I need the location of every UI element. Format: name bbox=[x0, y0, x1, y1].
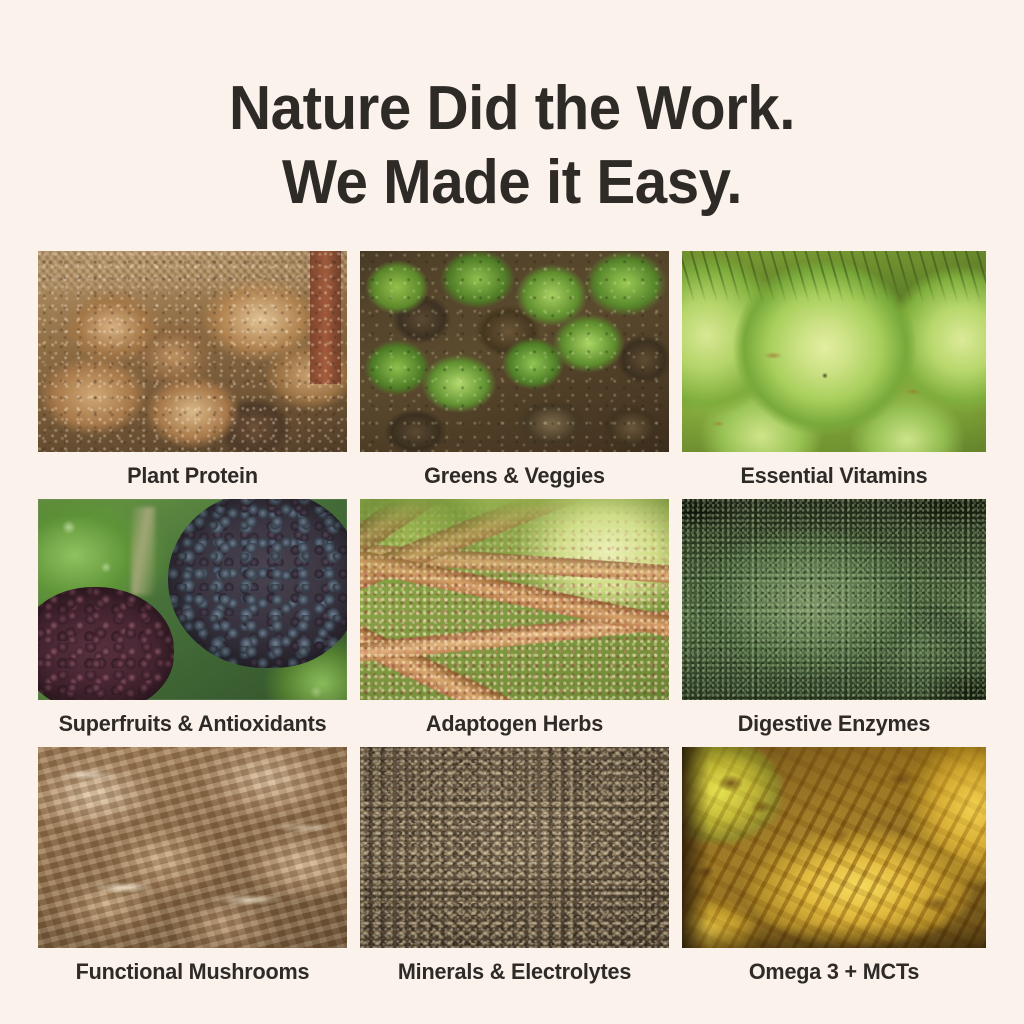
ingredient-grid: Plant Protein Greens & Veggies Essential… bbox=[38, 251, 986, 999]
photo-vignette bbox=[38, 499, 347, 700]
maitake-mushrooms-photo bbox=[38, 747, 347, 948]
yellow-cacao-pods-photo bbox=[682, 747, 986, 948]
grid-cell-essential-vitamins[interactable]: Essential Vitamins bbox=[682, 251, 986, 499]
tile-label-essential-vitamins: Essential Vitamins bbox=[688, 452, 980, 499]
grid-cell-plant-protein[interactable]: Plant Protein bbox=[38, 251, 347, 499]
grid-cell-greens-veggies[interactable]: Greens & Veggies bbox=[360, 251, 669, 499]
grid-cell-functional-mushrooms[interactable]: Functional Mushrooms bbox=[38, 747, 347, 999]
headline-line-1: Nature Did the Work. bbox=[31, 72, 994, 146]
photo-vignette bbox=[38, 747, 347, 948]
amaranth-seed-heads-photo bbox=[360, 499, 669, 700]
headline-line-2: We Made it Easy. bbox=[31, 146, 994, 220]
spirulina-powder-photo bbox=[682, 499, 986, 700]
photo-vignette bbox=[38, 251, 347, 452]
photo-vignette bbox=[360, 499, 669, 700]
grid-cell-adaptogen-herbs[interactable]: Adaptogen Herbs bbox=[360, 499, 669, 747]
dried-maca-roots-photo bbox=[38, 251, 347, 452]
photo-vignette bbox=[682, 499, 986, 700]
photo-vignette bbox=[360, 251, 669, 452]
tile-label-adaptogen-herbs: Adaptogen Herbs bbox=[366, 700, 663, 747]
chia-seeds-photo bbox=[360, 747, 669, 948]
grid-cell-omega-3-mcts[interactable]: Omega 3 + MCTs bbox=[682, 747, 986, 999]
green-star-pods-photo bbox=[360, 251, 669, 452]
photo-vignette bbox=[682, 747, 986, 948]
grid-cell-superfruits-antioxidants[interactable]: Superfruits & Antioxidants bbox=[38, 499, 347, 747]
tile-label-minerals-electrolytes: Minerals & Electrolytes bbox=[366, 948, 663, 995]
photo-vignette bbox=[682, 251, 986, 452]
photo-shading-layer bbox=[360, 747, 669, 948]
tile-label-digestive-enzymes: Digestive Enzymes bbox=[688, 700, 980, 747]
tile-label-omega-3-mcts: Omega 3 + MCTs bbox=[688, 948, 980, 995]
acai-berry-clusters-photo bbox=[38, 499, 347, 700]
page-title: Nature Did the Work. We Made it Easy. bbox=[31, 72, 994, 220]
tile-label-greens-veggies: Greens & Veggies bbox=[366, 452, 663, 499]
grid-cell-digestive-enzymes[interactable]: Digestive Enzymes bbox=[682, 499, 986, 747]
tile-label-superfruits-antioxidants: Superfruits & Antioxidants bbox=[44, 700, 341, 747]
grid-cell-minerals-electrolytes[interactable]: Minerals & Electrolytes bbox=[360, 747, 669, 999]
ingredient-grid-poster: Nature Did the Work. We Made it Easy. Pl… bbox=[0, 0, 1024, 1024]
green-coconuts-photo bbox=[682, 251, 986, 452]
tile-label-functional-mushrooms: Functional Mushrooms bbox=[44, 948, 341, 995]
tile-label-plant-protein: Plant Protein bbox=[44, 452, 341, 499]
